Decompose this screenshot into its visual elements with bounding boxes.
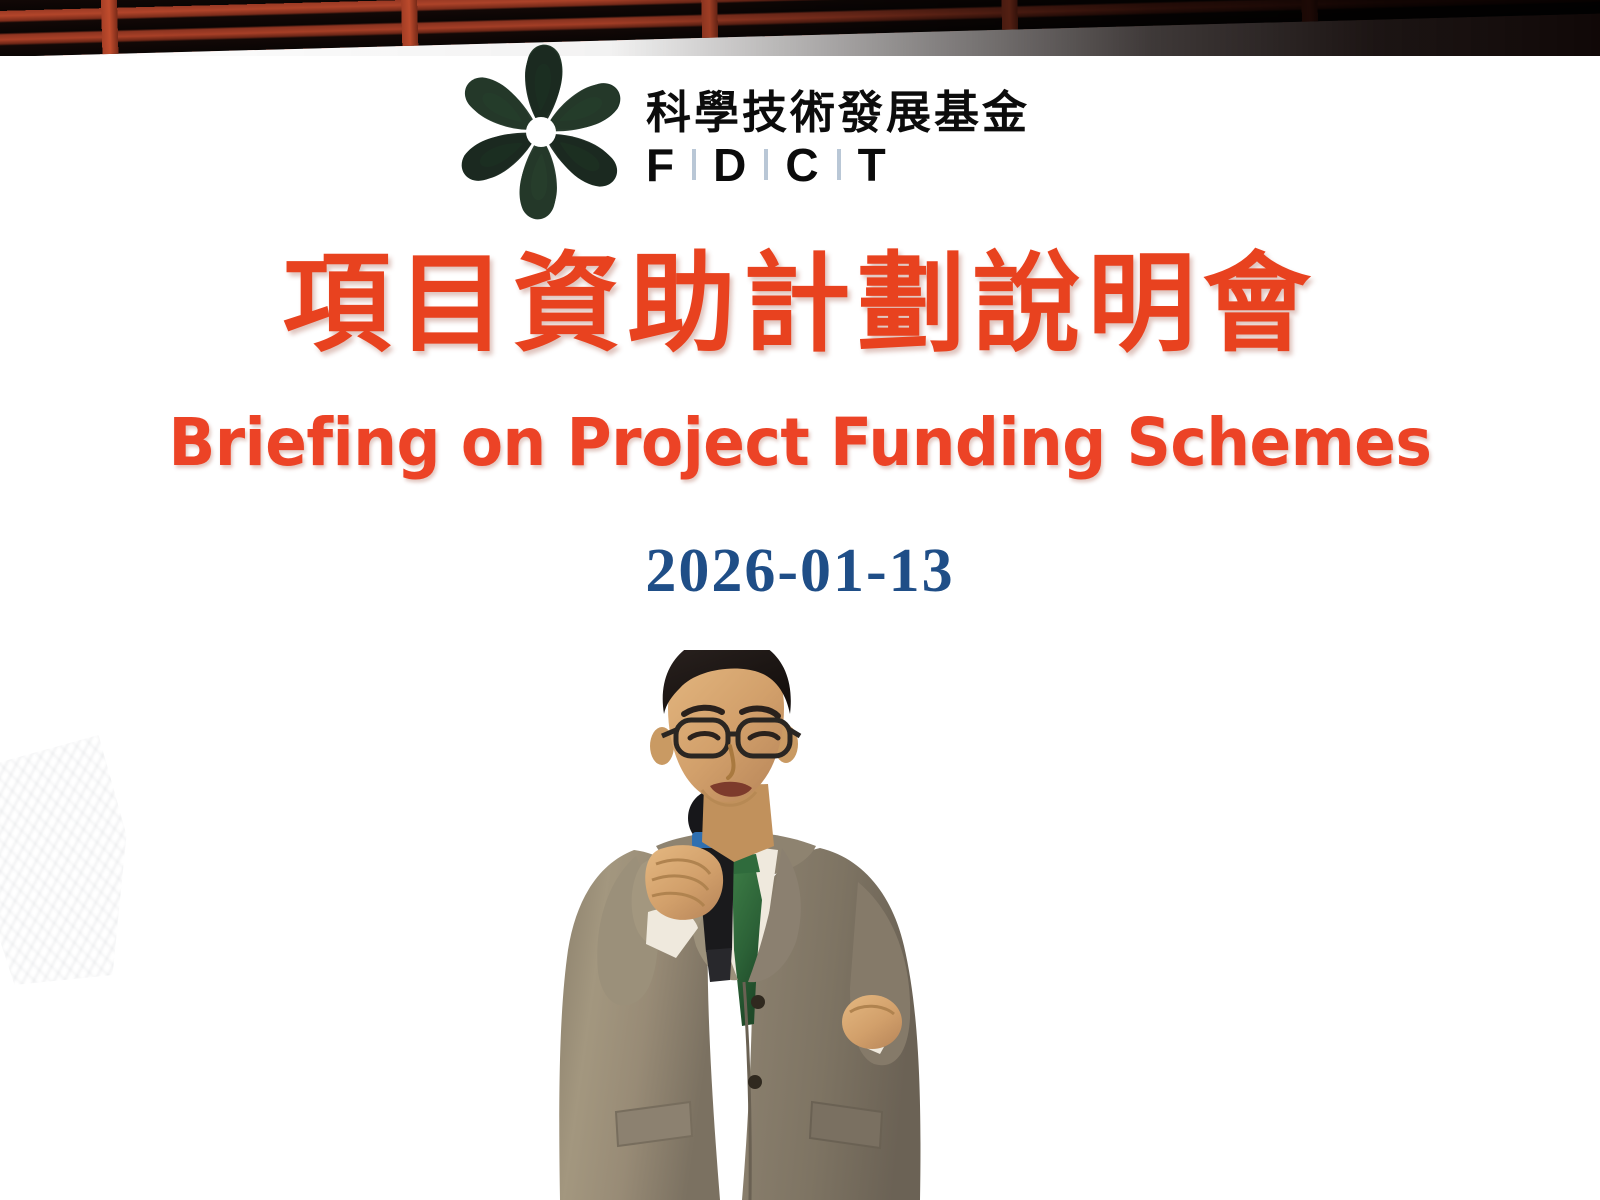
microphone-base xyxy=(706,948,732,982)
fdct-letter-d: D xyxy=(713,142,747,188)
fdct-separator-1 xyxy=(692,149,696,180)
fdct-pinwheel-logo-icon xyxy=(452,43,630,221)
head xyxy=(650,650,800,805)
jacket-button-lower xyxy=(748,1075,762,1089)
jacket-button-upper xyxy=(751,995,765,1009)
fdct-logo-lockup: 科學技術發展基金 F D C T xyxy=(452,42,1072,222)
slide-title-english: Briefing on Project Funding Schemes xyxy=(56,408,1544,477)
fdct-letter-c: C xyxy=(785,142,819,188)
fdct-logo-wordmark: 科學技術發展基金 F D C T xyxy=(646,76,1030,189)
fdct-separator-3 xyxy=(837,149,841,180)
presenter-photo xyxy=(506,650,986,1200)
right-hand-fist xyxy=(842,995,902,1049)
screenshot-canvas: 科學技術發展基金 F D C T 項目資助計劃說明會 Briefing on P… xyxy=(0,0,1600,1200)
slide-title-chinese: 項目資助計劃說明會 xyxy=(0,248,1600,361)
fdct-letter-t: T xyxy=(858,142,887,188)
projection-screen-smudge xyxy=(0,735,165,985)
slide-date: 2026-01-13 xyxy=(0,536,1600,607)
left-hand xyxy=(645,845,723,920)
fdct-chinese-name: 科學技術發展基金 xyxy=(646,90,1030,135)
fdct-abbreviation: F D C T xyxy=(646,141,1030,189)
fdct-letter-f: F xyxy=(646,142,675,188)
fdct-separator-2 xyxy=(764,149,768,180)
